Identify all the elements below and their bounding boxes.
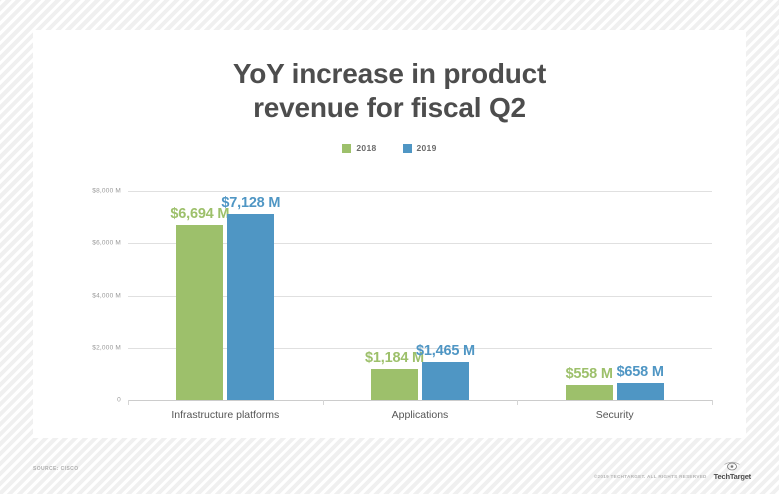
y-axis-tick-0: 0	[55, 397, 121, 404]
y-axis-tick-4000: $4,000 M	[55, 292, 121, 299]
bar-value-label: $7,128 M	[221, 195, 280, 211]
bar-value-label: $658 M	[617, 364, 664, 380]
bar-value-label: $558 M	[566, 366, 613, 382]
chart-card: YoY increase in product revenue for fisc…	[33, 30, 746, 438]
bar-2018-0[interactable]: $6,694 M	[176, 225, 223, 400]
logo-text: TechTarget	[714, 472, 751, 481]
x-axis-tick	[323, 400, 324, 405]
copyright-note: ©2019 TECHTARGET. ALL RIGHTS RESERVED	[594, 474, 707, 481]
x-axis-label-0: Infrastructure platforms	[128, 409, 323, 421]
bar-value-label: $1,465 M	[416, 343, 475, 359]
bar-2019-2[interactable]: $658 M	[617, 383, 664, 400]
bar-2018-2[interactable]: $558 M	[566, 385, 613, 400]
y-axis-tick-2000: $2,000 M	[55, 344, 121, 351]
target-icon	[721, 460, 743, 471]
x-axis-tick	[128, 400, 129, 405]
bar-2019-1[interactable]: $1,465 M	[422, 362, 469, 400]
techtarget-logo: TechTarget	[714, 460, 751, 481]
plot-area: 0$2,000 M$4,000 M$6,000 M$8,000 M$6,694 …	[33, 30, 746, 438]
bar-group-0: $6,694 M$7,128 MInfrastructure platforms	[128, 30, 323, 438]
x-axis-tick	[712, 400, 713, 405]
bar-group-2: $558 M$658 MSecurity	[517, 30, 712, 438]
x-axis-label-2: Security	[517, 409, 712, 421]
bar-group-1: $1,184 M$1,465 MApplications	[323, 30, 518, 438]
x-axis-tick	[517, 400, 518, 405]
y-axis-tick-8000: $8,000 M	[55, 188, 121, 195]
x-axis-label-1: Applications	[323, 409, 518, 421]
bar-2018-1[interactable]: $1,184 M	[371, 369, 418, 400]
bar-2019-0[interactable]: $7,128 M	[227, 214, 274, 400]
y-axis-tick-6000: $6,000 M	[55, 240, 121, 247]
footer-right: ©2019 TECHTARGET. ALL RIGHTS RESERVED Te…	[594, 460, 751, 481]
source-note: SOURCE: CISCO	[33, 466, 78, 472]
